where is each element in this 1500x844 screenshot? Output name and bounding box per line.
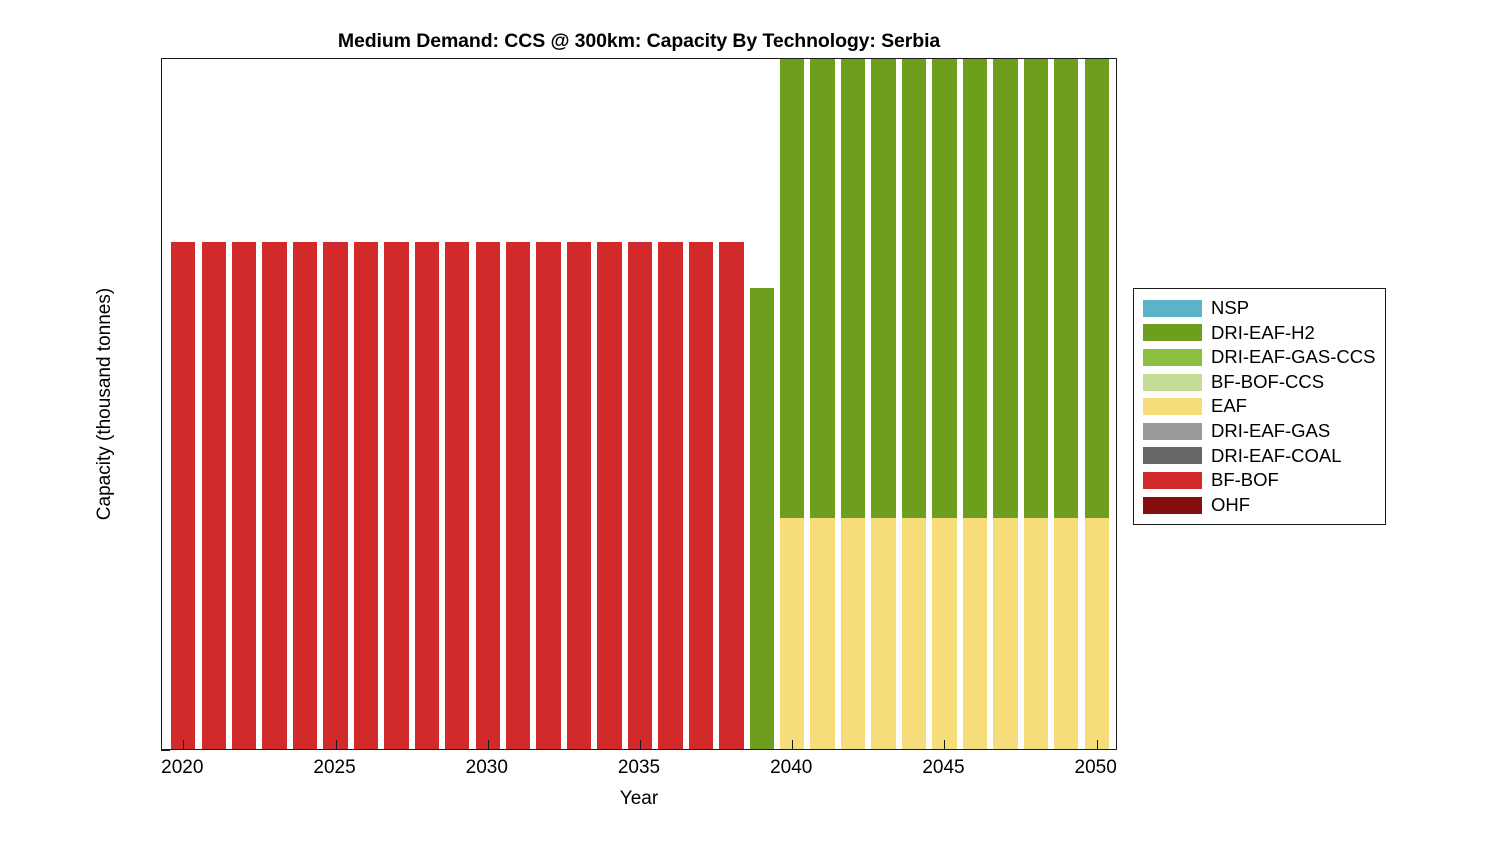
bar-column[interactable] (262, 58, 286, 749)
bar-column[interactable] (902, 58, 926, 749)
bar-segment[interactable] (1085, 518, 1109, 749)
bar-segment[interactable] (932, 518, 956, 749)
bar-segment[interactable] (323, 242, 347, 749)
legend-swatch-dri-eaf-gas (1143, 423, 1202, 440)
legend-item[interactable]: DRI-EAF-GAS-CCS (1134, 345, 1385, 370)
legend-swatch-dri-eaf-gas-ccs (1143, 349, 1202, 366)
bar-segment[interactable] (1085, 58, 1109, 518)
x-axis-tick-mark (183, 740, 184, 749)
bar-column[interactable] (384, 58, 408, 749)
x-axis-tick-mark (640, 740, 641, 749)
legend-label: DRI-EAF-GAS (1211, 422, 1330, 441)
bar-column[interactable] (202, 58, 226, 749)
bar-segment[interactable] (841, 58, 865, 518)
bar-segment[interactable] (1024, 58, 1048, 518)
bar-segment[interactable] (750, 288, 774, 749)
legend-swatch-eaf (1143, 398, 1202, 415)
bar-column[interactable] (810, 58, 834, 749)
bar-segment[interactable] (476, 242, 500, 749)
bar-segment[interactable] (780, 58, 804, 518)
legend-label: DRI-EAF-GAS-CCS (1211, 348, 1375, 367)
bar-column[interactable] (597, 58, 621, 749)
x-axis-tick-label: 2040 (770, 757, 812, 779)
legend-label: DRI-EAF-H2 (1211, 324, 1315, 343)
bar-column[interactable] (628, 58, 652, 749)
bar-segment[interactable] (810, 58, 834, 518)
bar-segment[interactable] (993, 518, 1017, 749)
bar-column[interactable] (750, 58, 774, 749)
x-axis-tick-mark (336, 740, 337, 749)
bar-segment[interactable] (232, 242, 256, 749)
bars-layer (162, 59, 1116, 749)
x-axis-tick-label: 2045 (922, 757, 964, 779)
bar-column[interactable] (963, 58, 987, 749)
bar-column[interactable] (232, 58, 256, 749)
legend-label: OHF (1211, 496, 1250, 515)
legend-item[interactable]: BF-BOF (1134, 468, 1385, 493)
bar-segment[interactable] (415, 242, 439, 749)
bar-segment[interactable] (963, 518, 987, 749)
legend-item[interactable]: OHF (1134, 493, 1385, 518)
bar-segment[interactable] (354, 242, 378, 749)
legend-item[interactable]: DRI-EAF-GAS (1134, 419, 1385, 444)
bar-column[interactable] (476, 58, 500, 749)
bar-column[interactable] (506, 58, 530, 749)
bar-column[interactable] (932, 58, 956, 749)
bar-segment[interactable] (293, 242, 317, 749)
bar-segment[interactable] (628, 242, 652, 749)
bar-column[interactable] (1024, 58, 1048, 749)
x-axis-tick-label: 2030 (466, 757, 508, 779)
legend-swatch-nsp (1143, 300, 1202, 317)
bar-segment[interactable] (171, 242, 195, 749)
legend-item[interactable]: DRI-EAF-COAL (1134, 444, 1385, 469)
bar-segment[interactable] (1024, 518, 1048, 749)
legend-item[interactable]: DRI-EAF-H2 (1134, 321, 1385, 346)
x-axis-tick-mark (792, 740, 793, 749)
bar-segment[interactable] (202, 242, 226, 749)
bar-segment[interactable] (506, 242, 530, 749)
y-axis-tick-mark (161, 750, 170, 751)
legend-label: BF-BOF (1211, 471, 1279, 490)
bar-segment[interactable] (384, 242, 408, 749)
x-axis-tick-label: 2035 (618, 757, 660, 779)
x-axis-tick-mark (1097, 740, 1098, 749)
bar-segment[interactable] (871, 518, 895, 749)
legend-item[interactable]: BF-BOF-CCS (1134, 370, 1385, 395)
legend-label: BF-BOF-CCS (1211, 373, 1324, 392)
bar-column[interactable] (323, 58, 347, 749)
bar-segment[interactable] (597, 242, 621, 749)
bar-segment[interactable] (871, 58, 895, 518)
bar-segment[interactable] (567, 242, 591, 749)
legend-label: EAF (1211, 397, 1247, 416)
bar-column[interactable] (445, 58, 469, 749)
legend-swatch-ohf (1143, 497, 1202, 514)
x-axis-label: Year (161, 788, 1117, 810)
bar-column[interactable] (1085, 58, 1109, 749)
bar-column[interactable] (171, 58, 195, 749)
bar-column[interactable] (658, 58, 682, 749)
bar-segment[interactable] (932, 58, 956, 518)
bar-segment[interactable] (658, 242, 682, 749)
legend-swatch-dri-eaf-h2 (1143, 324, 1202, 341)
plot-area (161, 58, 1117, 750)
bar-column[interactable] (871, 58, 895, 749)
bar-column[interactable] (719, 58, 743, 749)
bar-column[interactable] (293, 58, 317, 749)
page-title: Medium Demand: CCS @ 300km: Capacity By … (161, 30, 1117, 53)
x-axis-tick-mark (488, 740, 489, 749)
legend-item[interactable]: EAF (1134, 394, 1385, 419)
x-axis-tick-label: 2050 (1075, 757, 1117, 779)
bar-segment[interactable] (1054, 518, 1078, 749)
bar-segment[interactable] (780, 518, 804, 749)
bar-column[interactable] (1054, 58, 1078, 749)
legend-item[interactable]: NSP (1134, 296, 1385, 321)
legend-swatch-dri-eaf-coal (1143, 447, 1202, 464)
legend-swatch-bf-bof-ccs (1143, 374, 1202, 391)
bar-segment[interactable] (1054, 58, 1078, 518)
bar-column[interactable] (841, 58, 865, 749)
bar-segment[interactable] (810, 518, 834, 749)
bar-column[interactable] (536, 58, 560, 749)
bar-segment[interactable] (902, 518, 926, 749)
bar-segment[interactable] (993, 58, 1017, 518)
bar-segment[interactable] (536, 242, 560, 749)
bar-column[interactable] (354, 58, 378, 749)
bar-segment[interactable] (902, 58, 926, 518)
bar-segment[interactable] (841, 518, 865, 749)
bar-segment[interactable] (963, 58, 987, 518)
bar-column[interactable] (689, 58, 713, 749)
bar-column[interactable] (993, 58, 1017, 749)
bar-segment[interactable] (445, 242, 469, 749)
legend-label: NSP (1211, 299, 1249, 318)
legend-swatch-bf-bof (1143, 472, 1202, 489)
bar-column[interactable] (567, 58, 591, 749)
x-axis-tick-mark (944, 740, 945, 749)
x-axis-tick-label: 2020 (161, 757, 203, 779)
bar-segment[interactable] (719, 242, 743, 749)
x-axis-tick-label: 2025 (313, 757, 355, 779)
y-axis-label: Capacity (thousand tonnes) (94, 288, 116, 520)
bar-column[interactable] (415, 58, 439, 749)
bar-segment[interactable] (262, 242, 286, 749)
legend-label: DRI-EAF-COAL (1211, 447, 1342, 466)
legend[interactable]: NSPDRI-EAF-H2DRI-EAF-GAS-CCSBF-BOF-CCSEA… (1133, 288, 1386, 525)
bar-column[interactable] (780, 58, 804, 749)
figure-canvas: Medium Demand: CCS @ 300km: Capacity By … (0, 0, 1500, 844)
bar-segment[interactable] (689, 242, 713, 749)
